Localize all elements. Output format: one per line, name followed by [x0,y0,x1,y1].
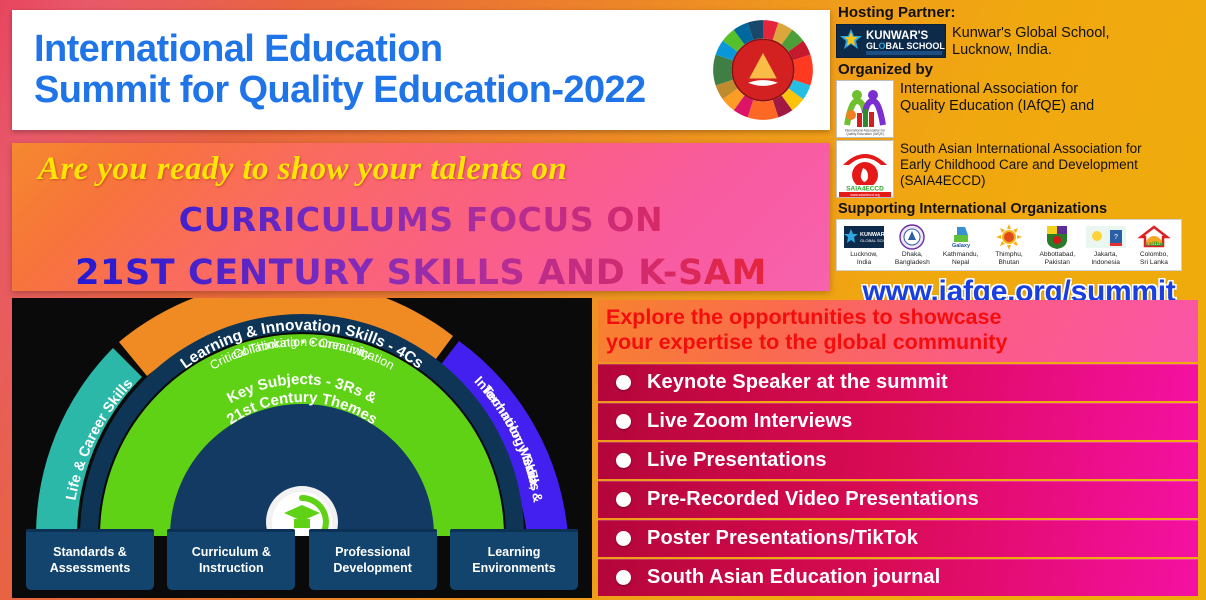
support-box-professional-development: Professional Development [309,529,437,590]
supporting-org-abbottabad: Abbottabad, Pakistan [1035,224,1079,267]
svg-text:?: ? [1114,234,1118,241]
bullet-icon [616,414,631,429]
abbottabad-logo-icon [1035,224,1079,250]
supporting-org-jakarta: ? Jakarta, Indonesia [1084,224,1128,267]
title-line-2: Summit for Quality Education [34,69,551,111]
sdg-wheel-icon [710,17,816,123]
supporting-org-kathmandu: Galaxy Kathmandu, Nepal [939,224,983,267]
bullet-icon [616,453,631,468]
svg-text:GLOBAL SCHOOL: GLOBAL SCHOOL [866,41,945,51]
svg-text:Galaxy: Galaxy [952,243,971,249]
bullet-icon [616,531,631,546]
tagline-line-1: CURRICULUMS FOCUS ON [12,200,830,239]
organizer-row-iafqe: International Association for Quality Ed… [836,80,1202,138]
organized-by-label: Organized by [838,61,1202,78]
supporting-orgs-label: Supporting International Organizations [838,201,1202,217]
hosting-partner-row: KUNWAR'S GLOBAL SCHOOL Kunwar's Global S… [836,24,1202,59]
supporting-org-thimphu: Thimphu, Bhutan [987,224,1031,267]
tagline-banner: Are you ready to show your talents on CU… [12,143,830,291]
support-box-standards-assessments: Standards & Assessments [26,529,154,590]
p21-framework-diagram: Learning & Innovation Skills - 4Cs Criti… [12,298,592,598]
svg-text:Quality Education (IAfQE): Quality Education (IAfQE) [846,132,884,136]
thimphu-logo-icon [987,224,1031,250]
opportunities-panel: Explore the opportunities to showcase yo… [598,300,1198,600]
opportunity-item-prerecorded-video[interactable]: Pre-Recorded Video Presentations [598,481,1198,518]
organizer-name-iafqe: International Association for Quality Ed… [900,80,1094,115]
tagline-line-2: 21ST CENTURY SKILLS AND K-SAM [12,253,830,293]
framework-arcs: Learning & Innovation Skills - 4Cs Criti… [12,298,592,536]
organizer-name-saia4eccd: South Asian International Association fo… [900,140,1142,189]
supporting-org-lucknow: KUNWAR'S GLOBAL SCHOOL Lucknow, India [842,224,886,267]
partners-column: Hosting Partner: KUNWAR'S GLOBAL SCHOOL … [836,4,1202,309]
svg-text:sailhe: sailhe [1145,241,1164,248]
dhaka-logo-icon [890,224,934,250]
supporting-org-colombo: sailhe Colombo, Sri Lanka [1132,224,1176,267]
bullet-icon [616,375,631,390]
opportunity-item-zoom-interviews[interactable]: Live Zoom Interviews [598,403,1198,440]
support-box-curriculum-instruction: Curriculum & Instruction [167,529,295,590]
title-bar: International Education Summit for Quali… [12,10,830,130]
organizer-row-saia4eccd: SAIA4ECCD www.saia4eccd.org South Asian … [836,140,1202,198]
bullet-icon [616,492,631,507]
galaxy-public-school-logo-icon: Galaxy [939,224,983,250]
svg-text:www.saia4eccd.org: www.saia4eccd.org [850,193,879,197]
support-box-learning-environments: Learning Environments [450,529,578,590]
bullet-icon [616,570,631,585]
title-line-1: International Education [34,28,442,70]
opportunity-item-education-journal[interactable]: South Asian Education journal [598,559,1198,596]
hosting-partner-label: Hosting Partner: [838,4,1202,21]
opportunity-item-live-presentations[interactable]: Live Presentations [598,442,1198,479]
sailhe-logo-icon: sailhe [1132,224,1176,250]
opportunity-item-keynote[interactable]: Keynote Speaker at the summit [598,364,1198,401]
supporting-orgs-strip: KUNWAR'S GLOBAL SCHOOL Lucknow, India Dh… [836,219,1182,270]
opportunities-heading: Explore the opportunities to showcase yo… [598,300,1198,362]
hosting-partner-name: Kunwar's Global School, Lucknow, India. [952,24,1110,59]
lucknow-logo-icon: KUNWAR'S GLOBAL SCHOOL [842,224,886,250]
svg-text:SAIA4ECCD: SAIA4ECCD [846,186,884,193]
supporting-org-dhaka: Dhaka, Bangladesh [890,224,934,267]
page-title: International Education Summit for Quali… [34,29,646,111]
opportunity-item-poster-tiktok[interactable]: Poster Presentations/TikTok [598,520,1198,557]
saia4eccd-logo: SAIA4ECCD www.saia4eccd.org [836,140,894,198]
iafqe-logo: International Association for Quality Ed… [836,80,894,138]
kunwars-global-school-logo: KUNWAR'S GLOBAL SCHOOL [836,24,946,58]
left-column: International Education Summit for Quali… [12,10,830,291]
summit-poster: International Education Summit for Quali… [0,0,1206,600]
tagline-question: Are you ready to show your talents on [38,151,830,188]
support-systems-row: Standards & Assessments Curriculum & Ins… [12,529,592,590]
svg-text:GLOBAL SCHOOL: GLOBAL SCHOOL [860,238,884,243]
title-year: -2022 [551,69,645,111]
jakarta-logo-icon: ? [1084,224,1128,250]
